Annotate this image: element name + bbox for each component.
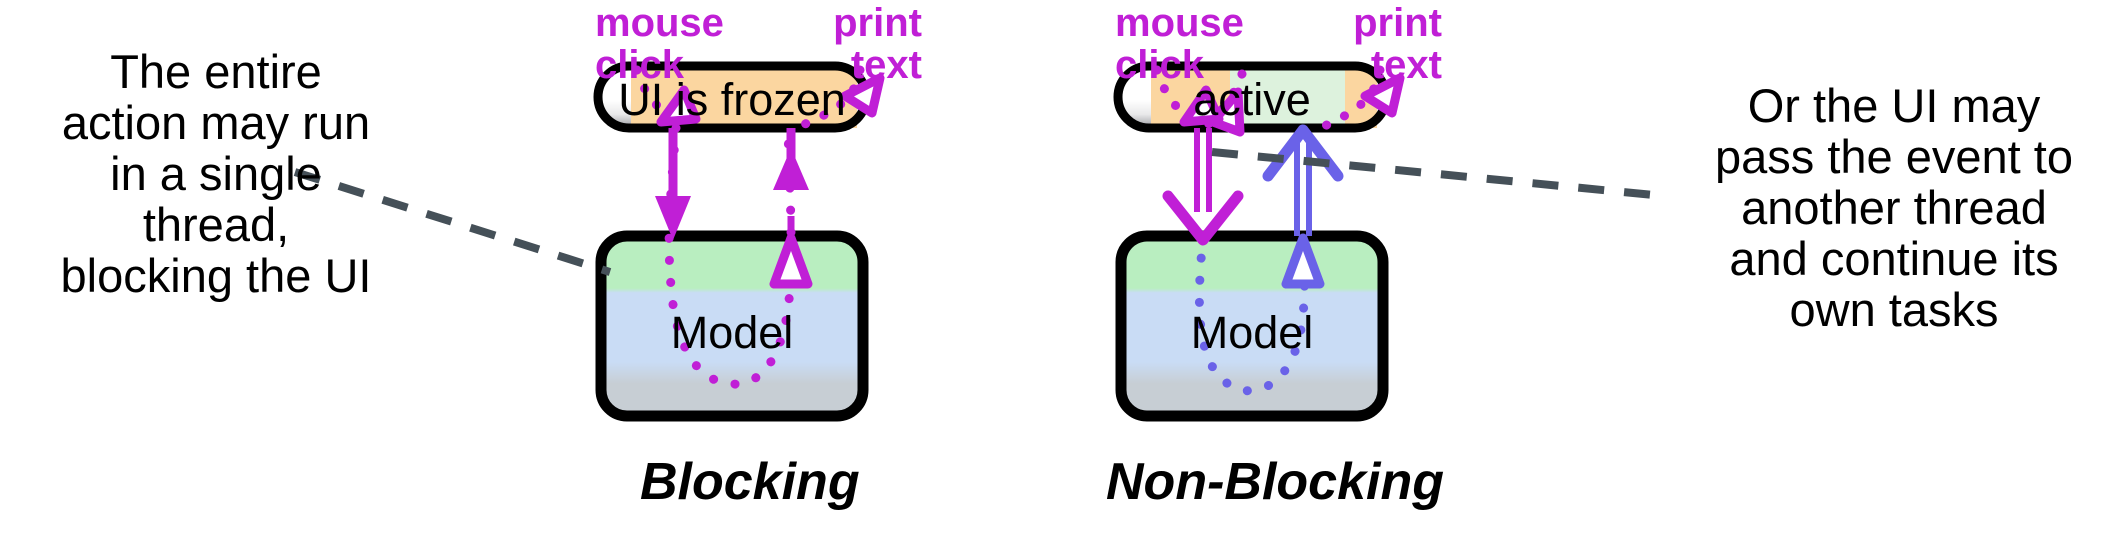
blocking-model-label: Model	[601, 307, 863, 359]
blocking-ui-bar-label: UI is frozen	[598, 74, 866, 126]
left-annotation-text: The entire action may run in a single th…	[6, 46, 426, 301]
nonblocking-ui-bar-label: active	[1118, 74, 1386, 126]
diagram-canvas: The entire action may run in a single th…	[0, 0, 2126, 538]
right-annotation-text: Or the UI may pass the event to another …	[1668, 80, 2120, 335]
blocking-panel-title: Blocking	[640, 452, 860, 512]
nonblocking-model-label: Model	[1121, 307, 1383, 359]
nonblocking-panel-title: Non-Blocking	[1106, 452, 1444, 512]
